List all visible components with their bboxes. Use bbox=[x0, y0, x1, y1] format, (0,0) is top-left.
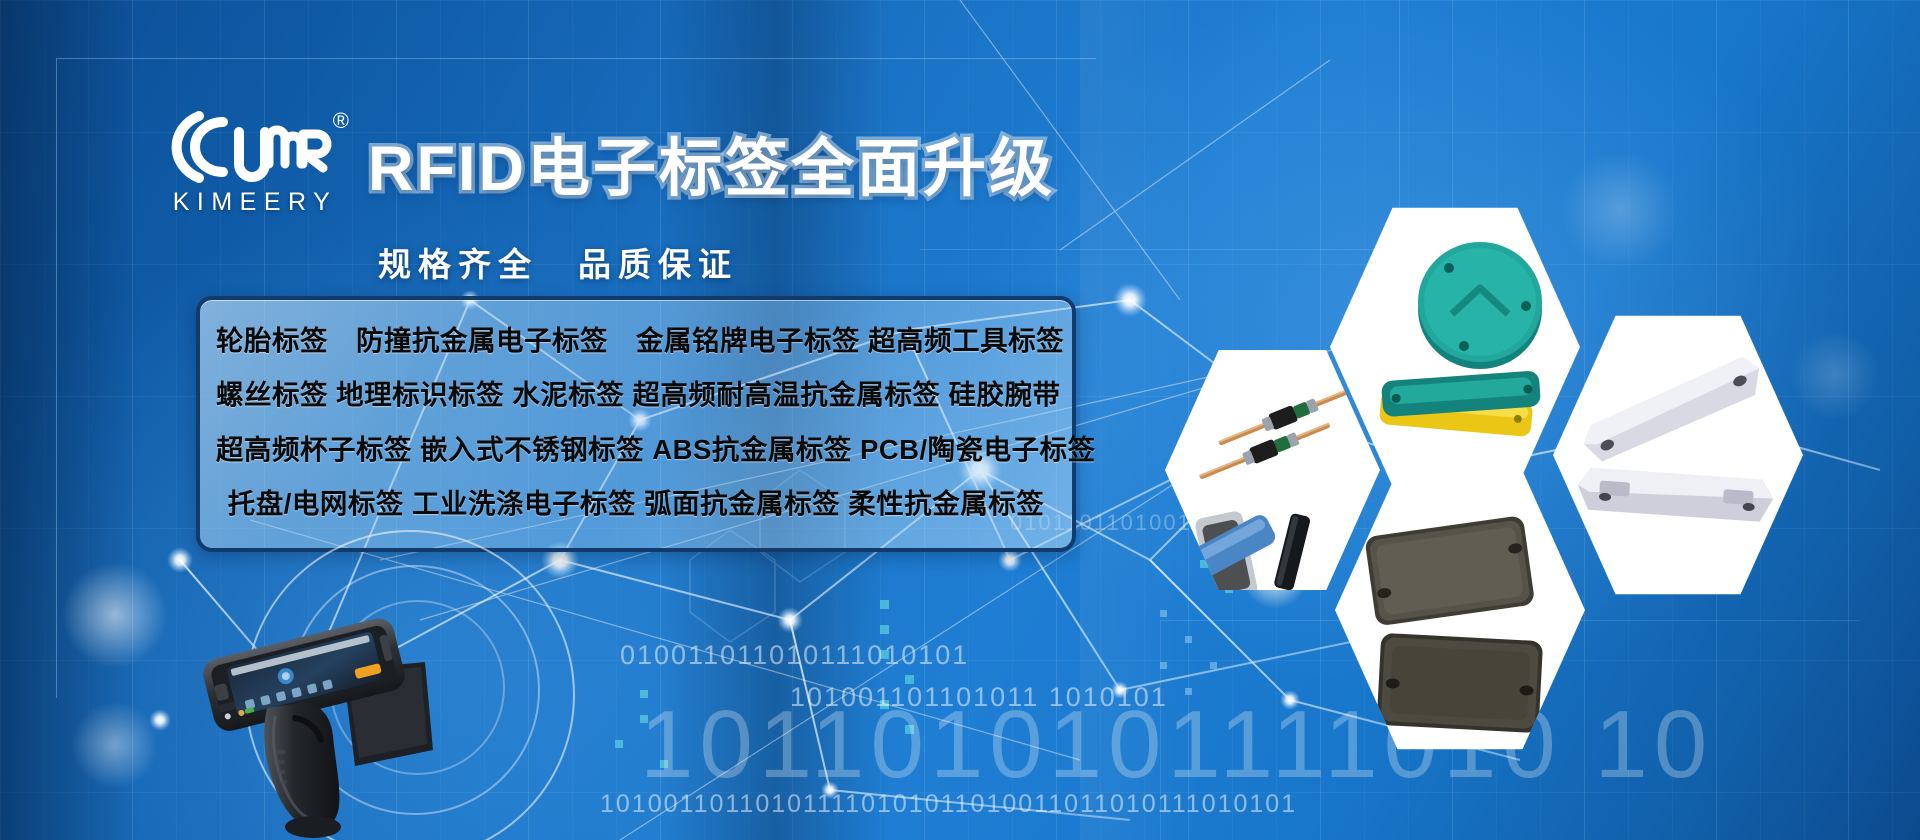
white-anti-metal-tag-products bbox=[1553, 310, 1803, 600]
product-list-row: 螺丝标签 地理标识标签 水泥标签 超高频耐高温抗金属标签 硅胶腕带 bbox=[216, 368, 1056, 423]
white-bar-tag-lower bbox=[1576, 467, 1774, 523]
black-strip-tag bbox=[1273, 513, 1311, 592]
brand-wordmark: KIMEERY bbox=[165, 188, 345, 217]
product-list-box: 轮胎标签 防撞抗金属电子标签 金属铭牌电子标签 超高频工具标签 螺丝标签 地理标… bbox=[196, 296, 1076, 552]
registered-mark-icon: ® bbox=[333, 108, 349, 134]
product-list-row: 超高频杯子标签 嵌入式不锈钢标签 ABS抗金属标签 PCB/陶瓷电子标签 bbox=[216, 422, 1056, 477]
hex-white-anti-metal-tags bbox=[1553, 310, 1803, 600]
dark-ceramic-tag-products bbox=[1335, 465, 1585, 755]
handheld-rfid-reader-illustration bbox=[195, 600, 495, 840]
product-list-row: 托盘/电网标签 工业洗涤电子标签 弧面抗金属标签 柔性抗金属标签 bbox=[216, 477, 1056, 532]
background-glow-4 bbox=[60, 560, 170, 670]
page-subtitle: 规格齐全 品质保证 bbox=[378, 238, 738, 286]
binary-text-large: 1011010101111010 10 bbox=[640, 690, 1713, 800]
dark-ceramic-tag-lower bbox=[1377, 633, 1544, 733]
background-glow-5 bbox=[70, 700, 160, 790]
handheld-rfid-reader bbox=[195, 600, 495, 840]
hex-dark-ceramic-tags bbox=[1335, 465, 1585, 755]
background-stripe-left bbox=[0, 0, 140, 840]
white-bar-tag-upper bbox=[1573, 353, 1771, 465]
binary-text-1: 010011011010111010101 bbox=[620, 640, 969, 671]
teal-round-anti-metal-tag bbox=[1418, 242, 1542, 369]
brand-logo: ® KIMEERY bbox=[165, 108, 345, 217]
kimeery-wave-logo-icon: ® bbox=[165, 108, 345, 186]
binary-text-3: 1010011011010111101010110100110110101110… bbox=[600, 790, 1297, 819]
dark-ceramic-tag-upper bbox=[1364, 515, 1535, 626]
product-list-row: 轮胎标签 防撞抗金属电子标签 金属铭牌电子标签 超高频工具标签 bbox=[216, 313, 1056, 368]
page-title: RFID电子标签全面升级 bbox=[368, 118, 1055, 209]
product-hexagon-cluster bbox=[1165, 175, 1905, 675]
binary-text-2: 101001101101011 1010101 bbox=[790, 682, 1168, 713]
rfid-promo-banner: 010011011010111010101 101001101101011 10… bbox=[0, 0, 1920, 840]
